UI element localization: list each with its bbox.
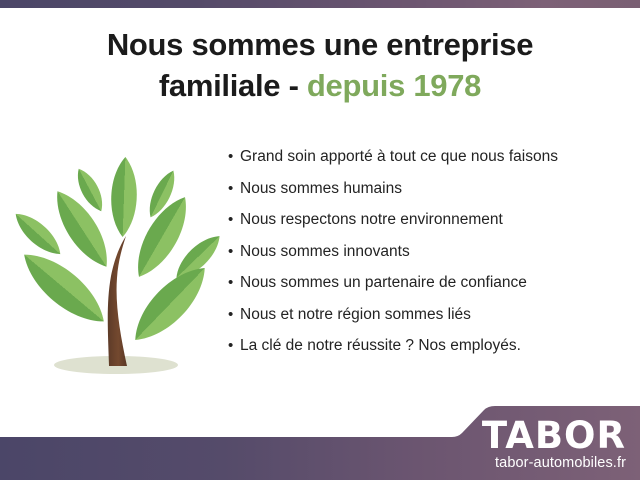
bullet-marker-icon: • [228, 307, 240, 322]
list-item: • Grand soin apporté à tout ce que nous … [228, 148, 628, 165]
page-title: Nous sommes une entreprise familiale - d… [40, 24, 600, 106]
list-item-label: Grand soin apporté à tout ce que nous fa… [240, 148, 558, 165]
page-title-line2: familiale - depuis 1978 [40, 65, 600, 106]
tree-illustration [12, 152, 227, 387]
list-item: • Nous sommes innovants [228, 243, 628, 260]
page-title-line1: Nous sommes une entreprise [107, 27, 533, 62]
bullet-marker-icon: • [228, 212, 240, 227]
list-item-label: Nous sommes un partenaire de confiance [240, 274, 527, 291]
footer-banner: TABOR tabor-automobiles.fr [0, 400, 640, 480]
bullet-marker-icon: • [228, 338, 240, 353]
top-accent-bar [0, 0, 640, 8]
list-item-label: La clé de notre réussite ? Nos employés. [240, 337, 521, 354]
brand-logo[interactable]: TABOR tabor-automobiles.fr [482, 417, 626, 471]
list-item: • Nous et notre région sommes liés [228, 306, 628, 323]
tree-trunk [108, 236, 127, 366]
list-item: • Nous sommes humains [228, 180, 628, 197]
list-item-label: Nous sommes humains [240, 180, 402, 197]
page-title-accent: depuis 1978 [307, 68, 481, 103]
brand-logo-tagline: tabor-automobiles.fr [482, 456, 626, 471]
brand-logo-wordmark: TABOR [482, 417, 626, 454]
slide-root: Nous sommes une entreprise familiale - d… [0, 0, 640, 480]
bullet-list: • Grand soin apporté à tout ce que nous … [228, 148, 628, 369]
list-item-label: Nous respectons notre environnement [240, 211, 503, 228]
bullet-marker-icon: • [228, 149, 240, 164]
list-item: • La clé de notre réussite ? Nos employé… [228, 337, 628, 354]
page-title-line2-plain: familiale - [159, 68, 299, 103]
list-item-label: Nous sommes innovants [240, 243, 410, 260]
list-item: • Nous respectons notre environnement [228, 211, 628, 228]
bullet-marker-icon: • [228, 244, 240, 259]
bullet-marker-icon: • [228, 275, 240, 290]
list-item-label: Nous et notre région sommes liés [240, 306, 471, 323]
list-item: • Nous sommes un partenaire de confiance [228, 274, 628, 291]
bullet-marker-icon: • [228, 181, 240, 196]
